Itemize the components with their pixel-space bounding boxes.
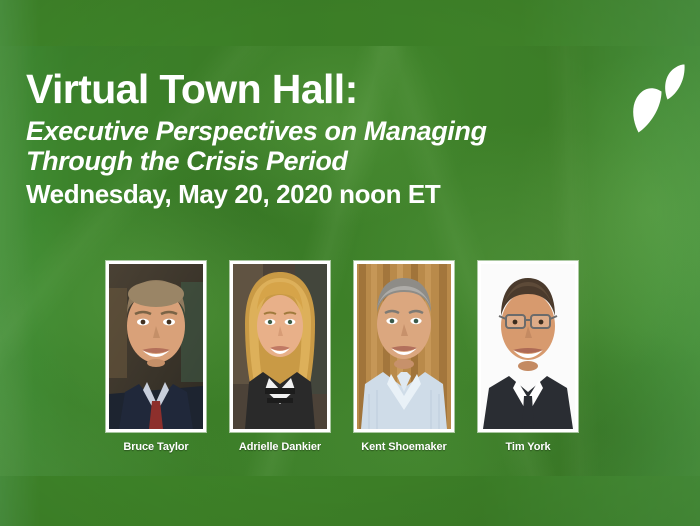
speaker-photo-frame	[478, 261, 578, 432]
virtual-town-hall-banner: Virtual Town Hall: Executive Perspective…	[0, 0, 700, 526]
subtitle-line-1: Executive Perspectives on Managing	[26, 116, 626, 146]
speaker-photo-bruce-taylor	[109, 264, 203, 429]
speaker-name: Adrielle Dankier	[230, 440, 330, 454]
headline-block: Virtual Town Hall: Executive Perspective…	[26, 66, 626, 209]
speaker-item: Tim York	[478, 261, 578, 454]
speaker-photo-kent-shoemaker	[357, 264, 451, 429]
speaker-photo-tim-york	[481, 264, 575, 429]
page-title: Virtual Town Hall:	[26, 66, 626, 112]
speaker-photo-frame	[230, 261, 330, 432]
speaker-name: Bruce Taylor	[106, 440, 206, 454]
subtitle-line-2: Through the Crisis Period	[26, 146, 626, 176]
speaker-photo-frame	[106, 261, 206, 432]
speaker-item: Kent Shoemaker	[354, 261, 454, 454]
speaker-list: Bruce Taylor	[106, 261, 578, 461]
speaker-photo-adrielle-dankier	[233, 264, 327, 429]
speaker-photo-frame	[354, 261, 454, 432]
speaker-item: Adrielle Dankier	[230, 261, 330, 454]
speaker-name: Tim York	[478, 440, 578, 454]
speaker-name: Kent Shoemaker	[354, 440, 454, 454]
subtitle: Executive Perspectives on Managing Throu…	[26, 116, 626, 176]
event-datetime: Wednesday, May 20, 2020 noon ET	[26, 179, 626, 209]
leaf-logo	[628, 62, 686, 134]
speaker-item: Bruce Taylor	[106, 261, 206, 454]
